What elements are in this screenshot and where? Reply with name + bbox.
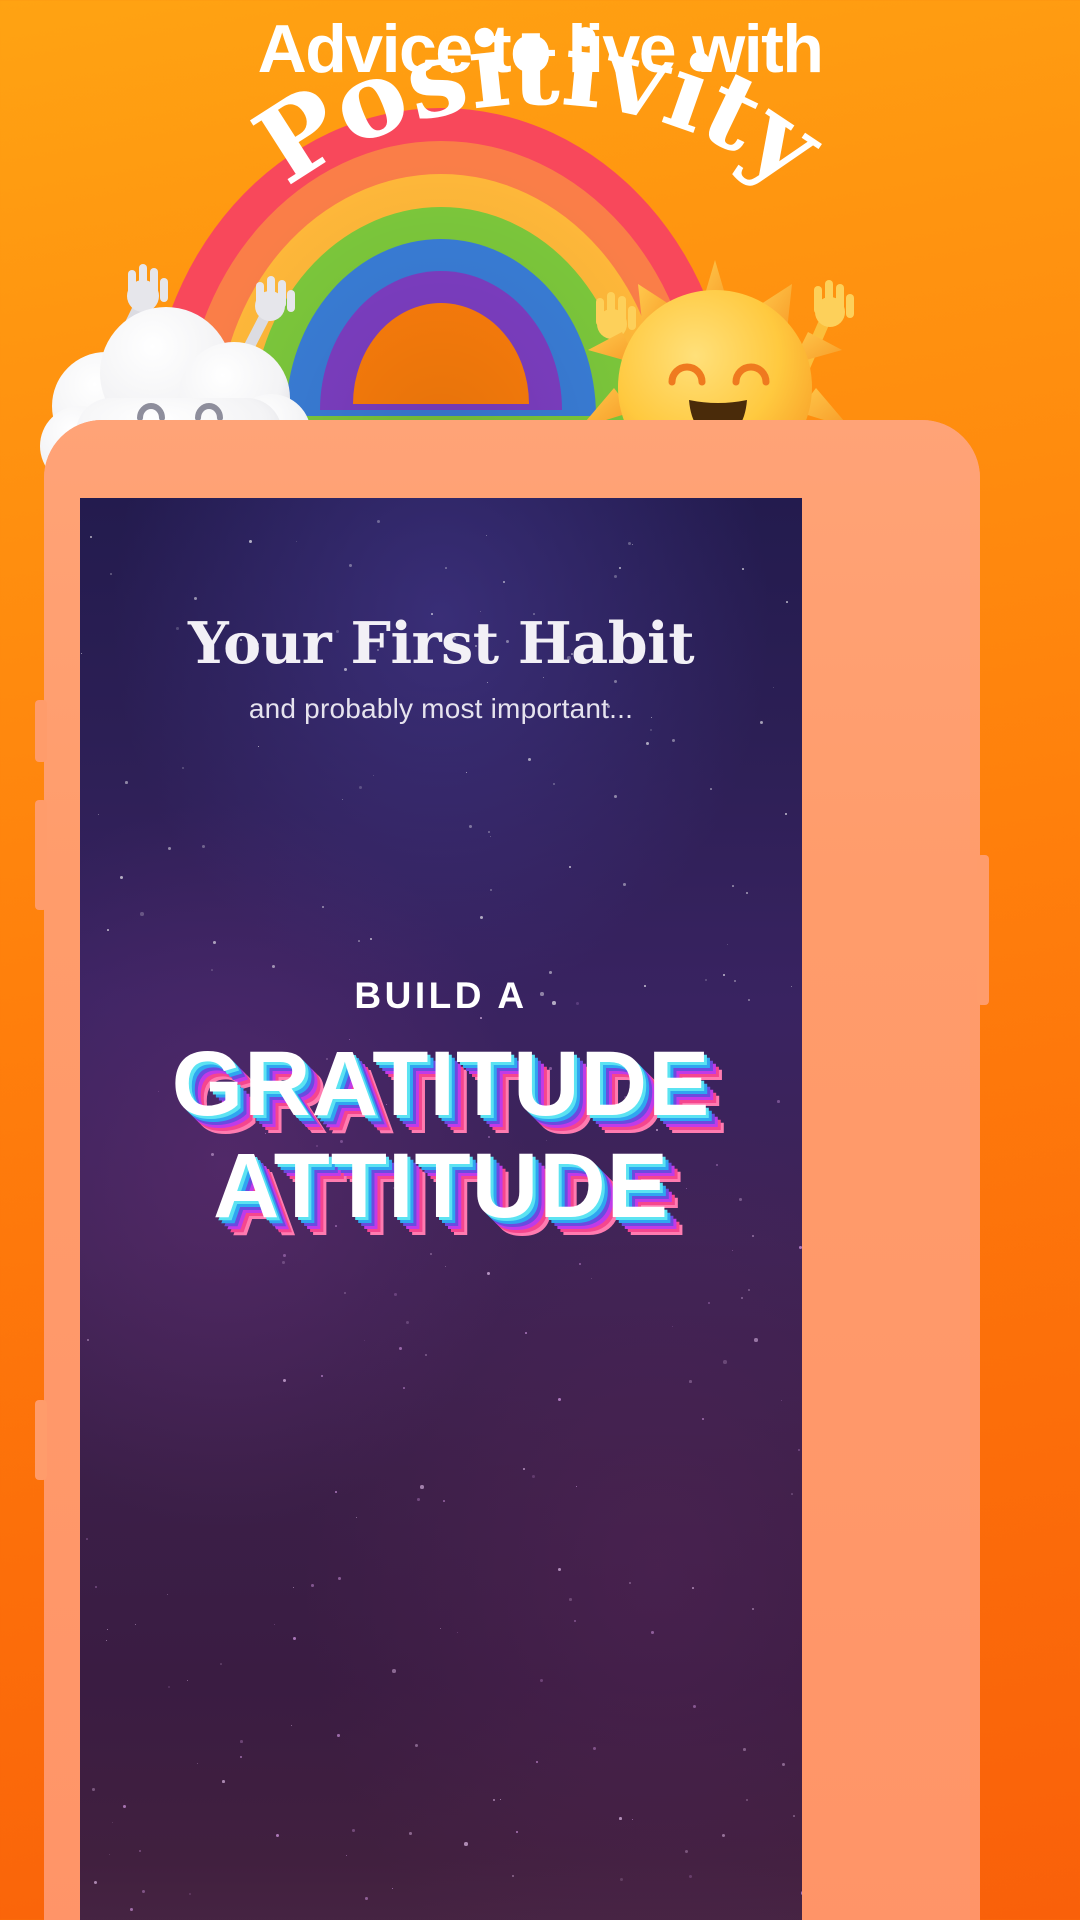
star — [95, 1586, 97, 1588]
star — [785, 813, 787, 815]
star — [222, 1780, 225, 1783]
star — [490, 836, 491, 837]
star — [708, 1302, 710, 1304]
star — [746, 892, 748, 894]
star — [528, 758, 531, 761]
star — [349, 564, 352, 567]
star — [540, 1679, 543, 1682]
star — [702, 1418, 704, 1420]
star — [516, 1831, 518, 1833]
star — [364, 1340, 365, 1341]
star — [194, 597, 197, 600]
star — [406, 1321, 409, 1324]
star — [392, 1669, 396, 1673]
star — [732, 885, 734, 887]
star — [107, 929, 109, 931]
star — [352, 1829, 355, 1832]
star — [801, 1891, 802, 1895]
screen-title: Your First Habit — [80, 610, 802, 677]
cloud-hand-right — [255, 276, 295, 321]
star — [293, 1587, 294, 1588]
star — [782, 1763, 785, 1766]
star — [168, 847, 171, 850]
star — [109, 1854, 110, 1855]
star — [94, 1881, 97, 1884]
star — [793, 1815, 795, 1817]
star — [672, 1326, 673, 1327]
star — [211, 969, 213, 971]
star — [213, 941, 216, 944]
screen-big-line-1: GRATITUDE — [80, 1032, 802, 1137]
star — [87, 1339, 89, 1341]
star — [791, 1493, 793, 1495]
phone-screen: Your First Habit and probably most impor… — [80, 498, 802, 1920]
star — [469, 825, 472, 828]
star — [409, 1832, 412, 1835]
star — [486, 535, 487, 536]
star — [748, 1289, 750, 1291]
star — [480, 1017, 482, 1019]
star — [139, 1850, 141, 1852]
star — [377, 520, 380, 523]
star — [576, 1486, 577, 1487]
star — [440, 1628, 441, 1629]
star — [420, 1485, 424, 1489]
star — [569, 866, 571, 868]
star — [197, 1763, 198, 1764]
star — [532, 1475, 535, 1478]
star — [415, 1744, 418, 1747]
star — [710, 788, 712, 790]
star — [692, 1587, 694, 1589]
star — [593, 1747, 596, 1750]
star — [220, 1663, 222, 1665]
star — [346, 1855, 347, 1856]
phone-mockup: Your First Habit and probably most impor… — [44, 420, 980, 1920]
star — [112, 1822, 113, 1823]
star — [240, 1740, 243, 1743]
screen-big-line-2: ATTITUDE — [80, 1134, 802, 1239]
star — [142, 1890, 145, 1893]
star — [140, 912, 144, 916]
star — [543, 677, 544, 678]
star — [743, 1748, 746, 1751]
star — [628, 542, 631, 545]
star — [632, 544, 633, 545]
star — [167, 1594, 168, 1595]
star — [322, 906, 324, 908]
star — [553, 783, 555, 785]
star — [258, 746, 259, 747]
star — [90, 536, 92, 538]
star — [443, 1500, 445, 1502]
sun-hand-right — [814, 280, 854, 327]
star — [466, 772, 467, 773]
star — [392, 1888, 393, 1889]
star — [125, 781, 128, 784]
star — [293, 1637, 296, 1640]
star — [98, 814, 99, 815]
star — [591, 1278, 592, 1279]
star — [445, 567, 447, 569]
star — [370, 938, 372, 940]
star — [202, 845, 205, 848]
star — [632, 1819, 633, 1820]
star — [512, 1875, 514, 1877]
star — [373, 775, 374, 776]
star — [283, 1379, 286, 1382]
star — [525, 1332, 527, 1334]
phone-button-volume-down[interactable] — [35, 1400, 47, 1480]
star — [619, 567, 621, 569]
star — [614, 795, 617, 798]
star — [629, 1582, 631, 1584]
star — [92, 1788, 95, 1791]
star — [650, 729, 652, 731]
star — [135, 1624, 136, 1625]
star — [365, 1897, 368, 1900]
star — [86, 1538, 88, 1540]
star — [123, 1805, 126, 1808]
star — [417, 1498, 420, 1501]
star — [240, 1756, 242, 1758]
star — [291, 1725, 292, 1726]
star — [799, 1246, 802, 1249]
star — [742, 568, 744, 570]
star — [189, 1893, 191, 1895]
star — [689, 1875, 692, 1878]
star — [493, 1799, 495, 1801]
star — [187, 1680, 188, 1681]
star — [106, 1640, 107, 1641]
star — [786, 601, 788, 603]
star — [614, 680, 617, 683]
star — [619, 1817, 622, 1820]
star — [337, 1734, 340, 1737]
star — [182, 767, 184, 769]
star — [693, 1705, 696, 1708]
star — [338, 1577, 341, 1580]
star — [487, 1272, 490, 1275]
star — [579, 1263, 581, 1265]
star — [672, 739, 675, 742]
star — [536, 1761, 538, 1763]
star — [781, 1400, 782, 1401]
star — [614, 575, 617, 578]
star — [549, 971, 552, 974]
star — [321, 1375, 323, 1377]
star — [620, 1878, 623, 1881]
star — [732, 1250, 733, 1251]
star — [107, 1629, 108, 1630]
star — [558, 1568, 561, 1571]
cloud-hand-left — [127, 264, 168, 312]
star — [272, 965, 275, 968]
phone-button-power[interactable] — [977, 855, 989, 1005]
star — [500, 1799, 501, 1800]
star — [342, 799, 343, 800]
star — [283, 1254, 286, 1257]
star — [569, 1598, 572, 1601]
star — [646, 742, 649, 745]
star — [723, 1360, 727, 1364]
star — [344, 1292, 346, 1294]
star — [798, 1449, 800, 1451]
star — [359, 786, 362, 789]
star — [464, 1842, 468, 1846]
star — [623, 883, 626, 886]
star — [296, 541, 297, 542]
star — [503, 581, 505, 583]
star — [574, 1620, 576, 1622]
star — [276, 1834, 279, 1837]
star — [110, 573, 112, 575]
star — [480, 916, 483, 919]
star — [488, 831, 490, 833]
star — [457, 1632, 458, 1633]
star — [430, 1253, 432, 1255]
star — [689, 1380, 692, 1383]
star — [490, 889, 492, 891]
star — [399, 1347, 402, 1350]
star — [685, 1850, 688, 1853]
star — [752, 1608, 754, 1610]
star — [746, 1799, 748, 1801]
star — [130, 1908, 133, 1911]
screen-subtitle: and probably most important... — [80, 693, 802, 725]
star — [727, 944, 728, 945]
star — [722, 1834, 725, 1837]
star — [741, 1297, 743, 1299]
star — [487, 682, 488, 683]
star — [394, 1293, 397, 1296]
star — [335, 1491, 337, 1493]
sun-hand-left — [596, 292, 636, 339]
star — [754, 1338, 758, 1342]
star — [274, 1624, 275, 1625]
page-headline: Advice to live with — [0, 14, 1080, 85]
star — [445, 1266, 446, 1267]
star — [120, 876, 123, 879]
star — [358, 940, 360, 942]
phone-button-volume-up[interactable] — [35, 800, 47, 910]
star — [282, 1261, 285, 1264]
screen-kicker: BUILD A — [80, 975, 802, 1017]
star — [311, 1584, 314, 1587]
star — [168, 1686, 170, 1688]
star — [425, 1354, 427, 1356]
star — [523, 1468, 525, 1470]
star — [249, 540, 252, 543]
star — [403, 1387, 405, 1389]
star — [651, 1631, 654, 1634]
star — [356, 1517, 357, 1518]
star — [558, 1398, 561, 1401]
phone-button-silent[interactable] — [35, 700, 47, 762]
star — [773, 687, 774, 688]
